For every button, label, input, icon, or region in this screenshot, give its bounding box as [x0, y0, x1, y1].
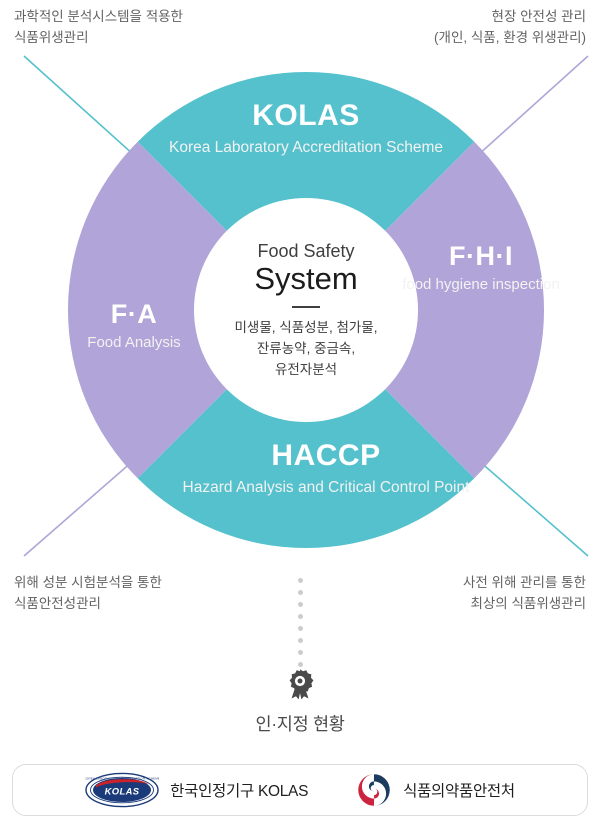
- infographic-root: 과학적인 분석시스템을 적용한 식품위생관리 현장 안전성 관리 (개인, 식품…: [0, 0, 600, 822]
- center-line-2: System: [254, 261, 357, 297]
- mfds-taegeuk-icon: [356, 772, 392, 808]
- svg-text:KOLAS: KOLAS: [105, 785, 140, 796]
- connector-dot: [298, 614, 303, 619]
- quadrant-subtitle-kolas: Korea Laboratory Accreditation Scheme: [156, 138, 456, 158]
- connector-dot: [298, 626, 303, 631]
- center-divider: [292, 306, 320, 309]
- quadrant-subtitle-fa: Food Analysis: [58, 333, 210, 353]
- quadrant-subtitle-fhi: food hygiene inspection: [402, 275, 560, 295]
- quadrant-title-fa: F·A: [58, 298, 210, 330]
- quadrant-title-haccp: HACCP: [176, 438, 476, 474]
- logo-text-kolas: 한국인정기구 KOLAS: [170, 779, 308, 801]
- quadrant-subtitle-haccp: Hazard Analysis and Critical Control Poi…: [176, 478, 476, 498]
- award-badge-icon: [285, 668, 315, 702]
- connector-dot: [298, 602, 303, 607]
- quadrant-title-fhi: F·H·I: [402, 240, 560, 272]
- quadrant-label-kolas: KOLAS Korea Laboratory Accreditation Sch…: [156, 98, 456, 158]
- connector-dot: [298, 662, 303, 667]
- connector-dot: [298, 578, 303, 583]
- status-label: 인·지정 현황: [255, 711, 344, 736]
- logo-item-mfds[interactable]: 식품의약품안전처: [356, 772, 515, 808]
- status-block[interactable]: 인·지정 현황: [0, 668, 600, 736]
- connector-dot: [298, 650, 303, 655]
- center-text-block: Food Safety System 미생물, 식품성분, 첨가물, 잔류농약,…: [194, 198, 418, 422]
- connector-dot: [298, 638, 303, 643]
- quadrant-title-kolas: KOLAS: [156, 98, 456, 134]
- caption-bottom-right: 사전 위해 관리를 통한 최상의 식품위생관리: [463, 572, 586, 614]
- center-line-1: Food Safety: [257, 240, 354, 262]
- quadrant-label-fa: F·A Food Analysis: [58, 298, 210, 353]
- quadrant-label-haccp: HACCP Hazard Analysis and Critical Contr…: [176, 438, 476, 498]
- caption-bottom-left: 위해 성분 시험분석을 통한 식품안전성관리: [14, 572, 162, 614]
- logo-text-mfds: 식품의약품안전처: [403, 779, 515, 801]
- kolas-logo-icon: KOLAS KOREA LABORATORY ACCREDITATION SCH…: [85, 772, 159, 808]
- quadrant-diagram: KOLAS Korea Laboratory Accreditation Sch…: [0, 0, 600, 560]
- logo-bar: KOLAS KOREA LABORATORY ACCREDITATION SCH…: [12, 764, 588, 816]
- logo-item-kolas[interactable]: KOLAS KOREA LABORATORY ACCREDITATION SCH…: [85, 772, 308, 808]
- center-items: 미생물, 식품성분, 첨가물, 잔류농약, 중금속, 유전자분석: [235, 317, 378, 380]
- connector-dot: [298, 590, 303, 595]
- dotted-connector: [298, 578, 303, 667]
- quadrant-label-fhi: F·H·I food hygiene inspection: [402, 240, 560, 295]
- svg-text:KOREA LABORATORY ACCREDITATION: KOREA LABORATORY ACCREDITATION SCHEME: [85, 776, 159, 780]
